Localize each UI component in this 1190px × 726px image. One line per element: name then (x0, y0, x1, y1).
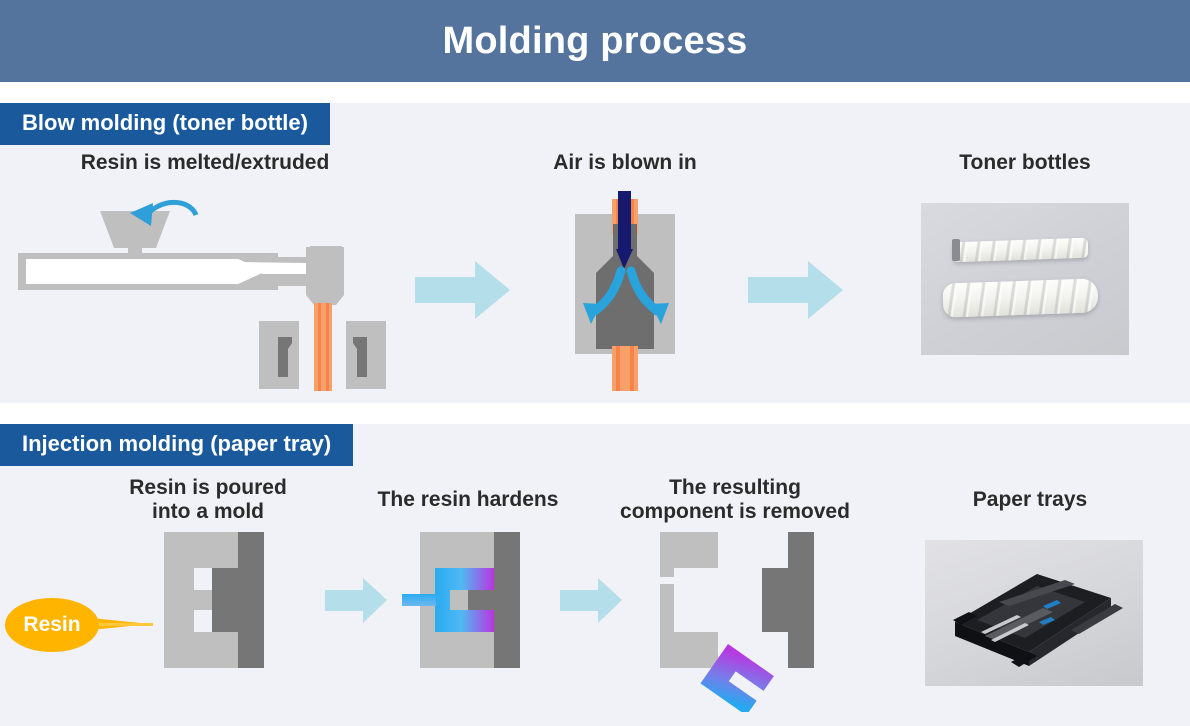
infographic-page: Molding process Blow molding (toner bott… (0, 0, 1190, 726)
step-label-air-blown-in: Air is blown in (455, 151, 795, 175)
step-component-removed: The resulting component is removed (600, 476, 870, 716)
arrow-2-icon (748, 261, 843, 319)
step-label-resin-melted: Resin is melted/extruded (10, 151, 400, 175)
step-label-component-removed: The resulting component is removed (600, 476, 870, 523)
step-label-resin-poured: Resin is poured into a mold (60, 476, 356, 523)
blow-mold-diagram (455, 191, 795, 391)
step-resin-hardens: The resin hardens (350, 476, 586, 716)
toner-bottle-small (953, 238, 1089, 263)
mold-open-diagram (600, 532, 870, 712)
resin-spout-line (91, 623, 153, 626)
resin-bubble: Resin (5, 598, 99, 652)
steps-row-blow-molding: Resin is melted/extruded (0, 103, 1190, 403)
page-title: Molding process (443, 20, 748, 63)
resin-callout: Resin (5, 598, 165, 658)
toner-bottle-small-cap (952, 239, 960, 261)
step-resin-poured: Resin is poured into a mold Resi (60, 476, 356, 716)
step-label-resin-hardens: The resin hardens (350, 488, 586, 512)
paper-tray-illustration (925, 540, 1143, 686)
step-label-paper-trays: Paper trays (865, 488, 1190, 512)
section-blow-molding: Blow molding (toner bottle) Resin is mel… (0, 103, 1190, 403)
step-resin-melted: Resin is melted/extruded (10, 151, 400, 401)
extruder-diagram (10, 191, 400, 391)
toner-bottles-photo (921, 203, 1129, 355)
resin-label: Resin (23, 613, 80, 637)
step-air-blown-in: Air is blown in (455, 151, 795, 401)
paper-trays-photo (925, 540, 1143, 686)
toner-bottle-large (942, 278, 1098, 317)
section-injection-molding: Injection molding (paper tray) Resin is … (0, 424, 1190, 726)
step-paper-trays: Paper trays (865, 476, 1190, 716)
mold-filled-diagram (350, 532, 586, 712)
steps-row-injection-molding: Resin is poured into a mold Resi (0, 424, 1190, 726)
step-toner-bottles: Toner bottles (860, 151, 1190, 401)
step-label-toner-bottles: Toner bottles (860, 151, 1190, 175)
page-title-bar: Molding process (0, 0, 1190, 82)
